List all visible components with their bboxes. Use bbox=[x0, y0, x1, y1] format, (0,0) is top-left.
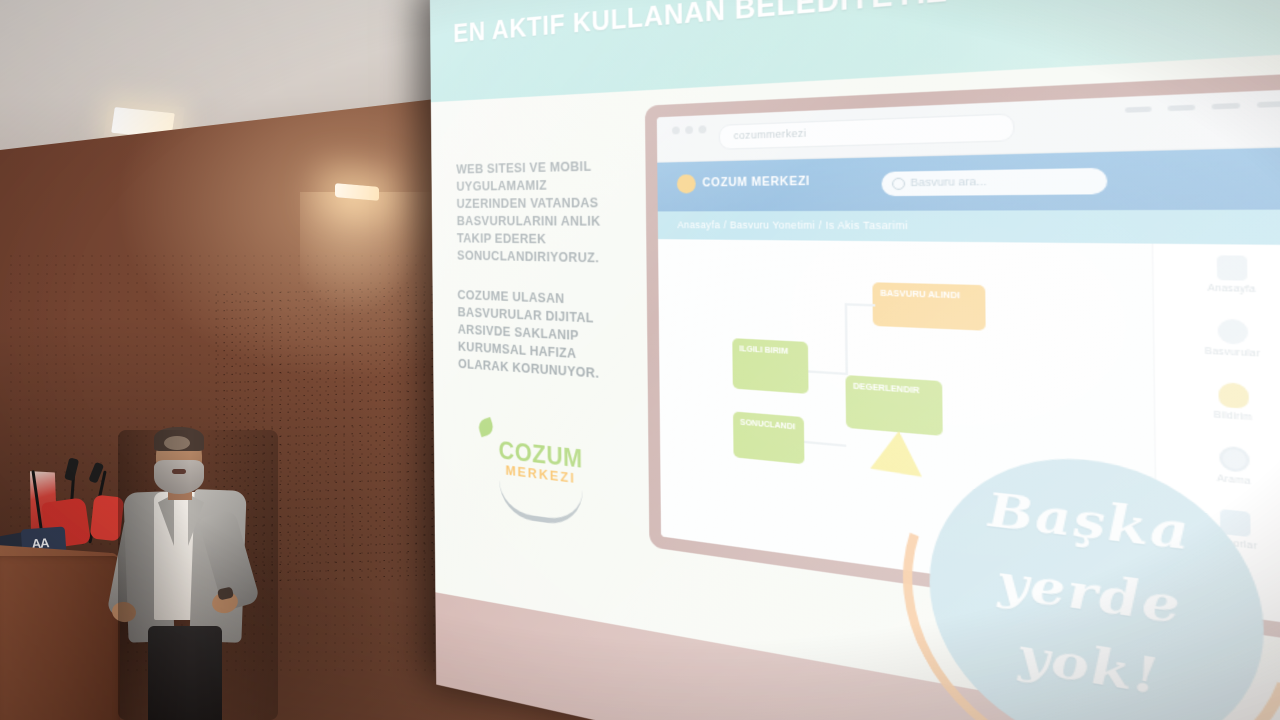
presenter-mouth bbox=[172, 469, 186, 474]
app-logo-icon bbox=[677, 174, 696, 193]
bell-icon bbox=[1218, 382, 1249, 409]
browser-tab-strip bbox=[1125, 101, 1280, 113]
breadcrumb: Anasayfa / Basvuru Yonetimi / Is Akis Ta… bbox=[677, 219, 908, 231]
callout-badge: Başka yerde yok! bbox=[893, 411, 1280, 720]
document-icon bbox=[1217, 319, 1248, 345]
smile-icon bbox=[499, 480, 583, 528]
window-close-icon[interactable] bbox=[672, 126, 680, 134]
presenter bbox=[118, 430, 278, 720]
app-search-input[interactable]: Basvuru ara... bbox=[881, 168, 1107, 196]
flow-node-1[interactable]: ILGILI BIRIM bbox=[732, 338, 808, 394]
app-brand[interactable]: COZUM MERKEZI bbox=[677, 172, 810, 193]
home-icon bbox=[1216, 255, 1247, 280]
presenter-beard bbox=[154, 460, 204, 494]
rail-item-label: Bildirim bbox=[1214, 411, 1253, 425]
presentation-room-photo: EN AKTIF KULLANAN BELEDIYEYIZ WEB SITESI… bbox=[0, 0, 1280, 720]
search-icon bbox=[892, 178, 905, 190]
browser-url-text: cozummerkezi bbox=[734, 127, 807, 141]
rail-item-label: Anasayfa bbox=[1207, 284, 1255, 296]
rail-item-anasayfa[interactable]: Anasayfa bbox=[1153, 254, 1280, 297]
cozum-merkezi-logo: COZUM MERKEZI bbox=[469, 417, 615, 532]
rail-item-label: Basvurular bbox=[1205, 347, 1261, 361]
presenter-forehead-highlight bbox=[164, 436, 190, 450]
presentation-slide: EN AKTIF KULLANAN BELEDIYEYIZ WEB SITESI… bbox=[430, 0, 1280, 720]
slide-body-column: WEB SITESI VE MOBIL UYGULAMAMIZ UZERINDE… bbox=[456, 157, 628, 409]
presenter-trousers bbox=[148, 626, 222, 720]
rail-item-basvurular[interactable]: Basvurular bbox=[1154, 316, 1280, 363]
window-maximize-icon[interactable] bbox=[698, 125, 706, 133]
browser-tab[interactable] bbox=[1212, 103, 1240, 110]
app-brand-label: COZUM MERKEZI bbox=[702, 176, 810, 190]
browser-tab[interactable] bbox=[1257, 101, 1280, 108]
browser-tab[interactable] bbox=[1168, 105, 1196, 112]
flow-node-start[interactable]: BASVURU ALINDI bbox=[872, 282, 985, 330]
wooden-lectern bbox=[0, 556, 120, 720]
slide-paragraph-1: WEB SITESI VE MOBIL UYGULAMAMIZ UZERINDE… bbox=[456, 157, 626, 268]
flow-connector bbox=[845, 303, 848, 375]
leaf-icon bbox=[476, 417, 495, 437]
slide-paragraph-2: COZUME ULASAN BASVURULAR DIJITAL ARSIVDE… bbox=[457, 287, 627, 386]
flow-connector bbox=[808, 370, 845, 374]
slide-title: EN AKTIF KULLANAN BELEDIYEYIZ bbox=[453, 0, 1280, 50]
flow-connector bbox=[804, 441, 846, 447]
app-search-placeholder: Basvuru ara... bbox=[910, 175, 987, 189]
browser-tab[interactable] bbox=[1125, 106, 1152, 112]
browser-url-bar[interactable]: cozummerkezi bbox=[719, 113, 1015, 150]
flow-node-3[interactable]: SONUCLANDI bbox=[733, 411, 804, 464]
window-minimize-icon[interactable] bbox=[685, 126, 693, 134]
flow-connector bbox=[845, 303, 876, 306]
projection-screen: EN AKTIF KULLANAN BELEDIYEYIZ WEB SITESI… bbox=[430, 0, 1280, 720]
rail-item-bildirim[interactable]: Bildirim bbox=[1155, 378, 1280, 429]
wall-light-spill bbox=[300, 192, 435, 317]
